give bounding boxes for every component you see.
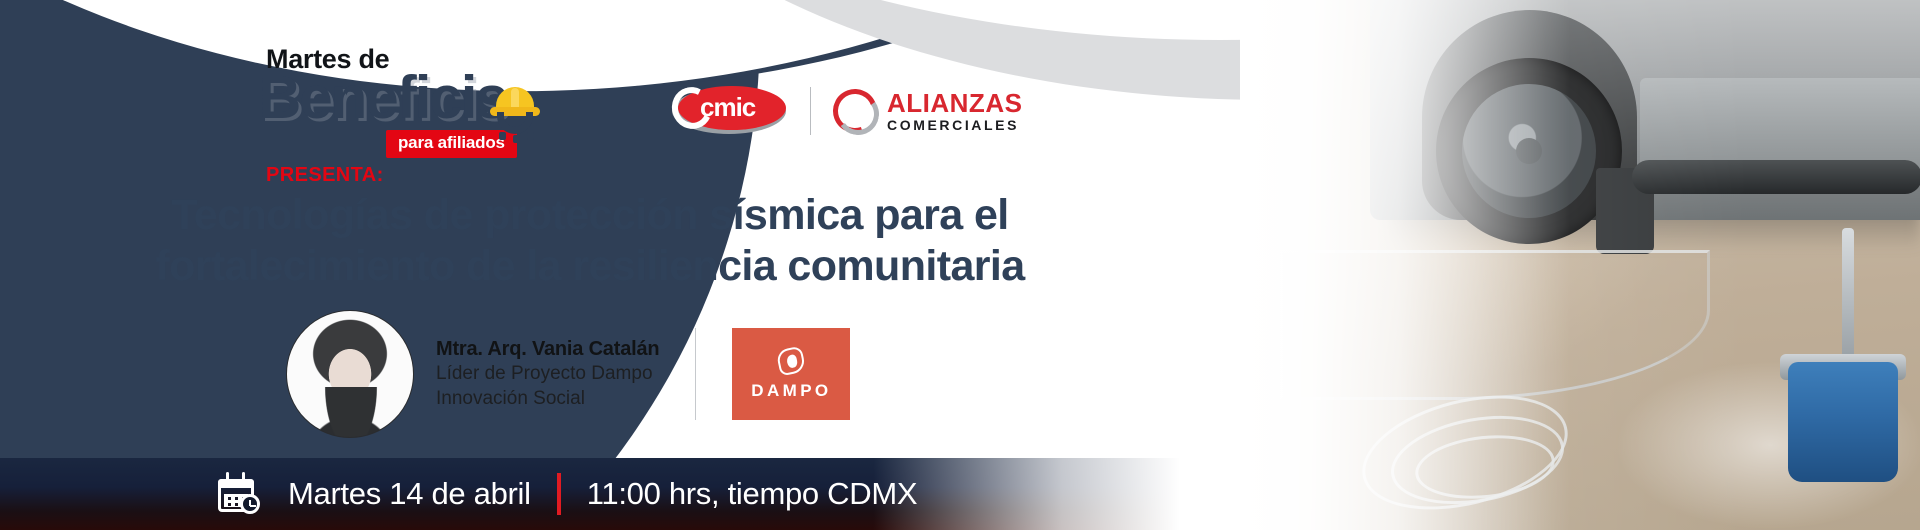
- speaker-divider: [695, 328, 696, 420]
- alianzas-comerciales-logo: ALIANZAS COMERCIALES: [833, 89, 1022, 133]
- hard-hat-gear-icon: [490, 85, 540, 135]
- dampo-logo: DAMPO: [732, 328, 850, 420]
- event-title-line-1: Tecnologías de protección sísmica para e…: [0, 190, 1180, 241]
- speaker-role-line-1: Líder de Proyecto Dampo: [436, 362, 659, 386]
- event-title-line-2: fortalecimiento de la resiliencia comuni…: [0, 241, 1180, 292]
- alianzas-circle-icon: [833, 89, 877, 133]
- speaker-role-line-2: Innovación Social: [436, 387, 659, 411]
- event-title: Tecnologías de protección sísmica para e…: [0, 190, 1180, 291]
- webinar-banner: Martes de Beneficis para afiliados: [0, 0, 1920, 530]
- speaker-block: Mtra. Arq. Vania Catalán Líder de Proyec…: [286, 310, 850, 438]
- partner-divider: [810, 87, 811, 135]
- event-time: 11:00 hrs, tiempo CDMX: [587, 476, 918, 512]
- speaker-name: Mtra. Arq. Vania Catalán: [436, 337, 659, 363]
- content-area: Martes de Beneficis para afiliados: [0, 0, 1180, 530]
- dampo-emblem-icon: [776, 345, 807, 376]
- logo-wordmark-text: Benefici: [258, 64, 475, 131]
- calendar-clock-icon: [218, 472, 262, 516]
- martes-de-beneficios-logo: Martes de Beneficis para afiliados: [258, 46, 588, 158]
- partner-logos: cmic ALIANZAS COMERCIALES: [672, 86, 1022, 136]
- comerciales-logo-text: COMERCIALES: [887, 118, 1022, 132]
- speaker-details: Mtra. Arq. Vania Catalán Líder de Proyec…: [436, 337, 659, 411]
- logo-wordmark: Beneficis: [258, 69, 588, 128]
- cmic-logo-text: cmic: [700, 94, 755, 120]
- photo-left-fade: [1240, 0, 1570, 530]
- schedule-separator: [557, 473, 561, 515]
- presenta-label: PRESENTA:: [266, 164, 384, 187]
- field-photo: [1240, 0, 1920, 530]
- event-date: Martes 14 de abril: [288, 476, 531, 512]
- event-schedule-bar: Martes 14 de abril 11:00 hrs, tiempo CDM…: [0, 458, 1180, 530]
- alianzas-logo-text: ALIANZAS: [887, 88, 1022, 118]
- cmic-logo: cmic: [672, 86, 788, 136]
- dampo-logo-text: DAMPO: [751, 381, 831, 401]
- speaker-avatar: [286, 310, 414, 438]
